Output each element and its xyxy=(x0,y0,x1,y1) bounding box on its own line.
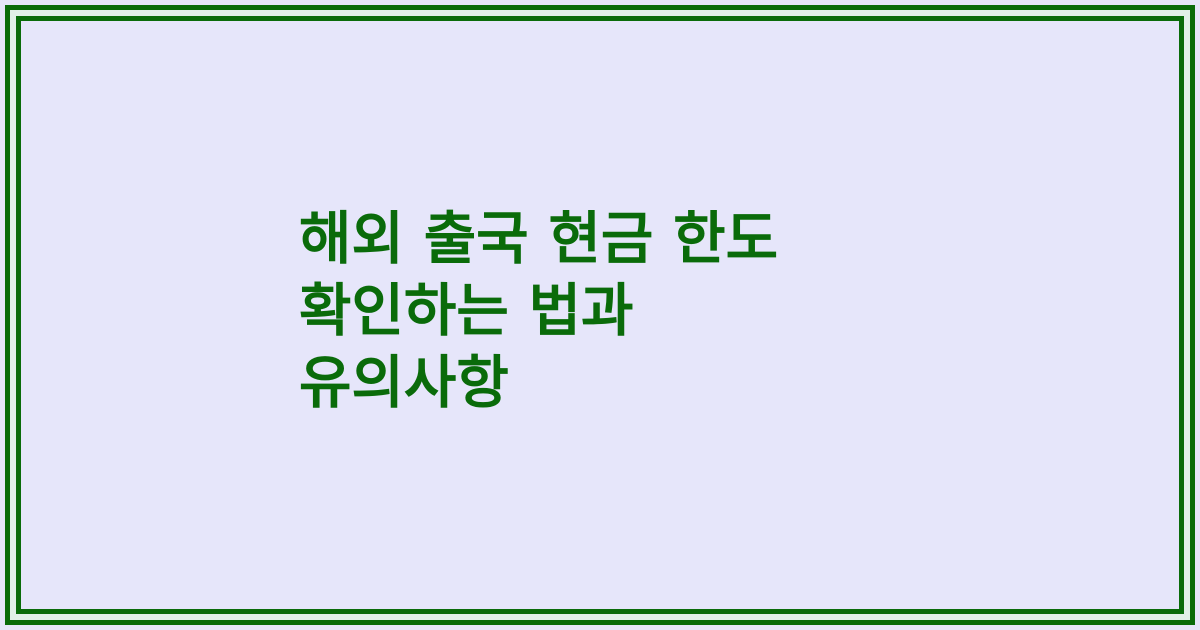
decorative-frame-inner: 해외 출국 현금 한도 확인하는 법과 유의사항 xyxy=(16,16,1184,614)
page-title-line-1: 해외 출국 현금 한도 xyxy=(299,203,999,275)
page-title: 해외 출국 현금 한도 확인하는 법과 유의사항 xyxy=(299,203,999,419)
decorative-frame-outer: 해외 출국 현금 한도 확인하는 법과 유의사항 xyxy=(5,5,1195,625)
page-title-line-2: 확인하는 법과 xyxy=(299,275,999,347)
poster-canvas: 해외 출국 현금 한도 확인하는 법과 유의사항 xyxy=(0,0,1200,630)
page-title-line-3: 유의사항 xyxy=(299,347,999,419)
